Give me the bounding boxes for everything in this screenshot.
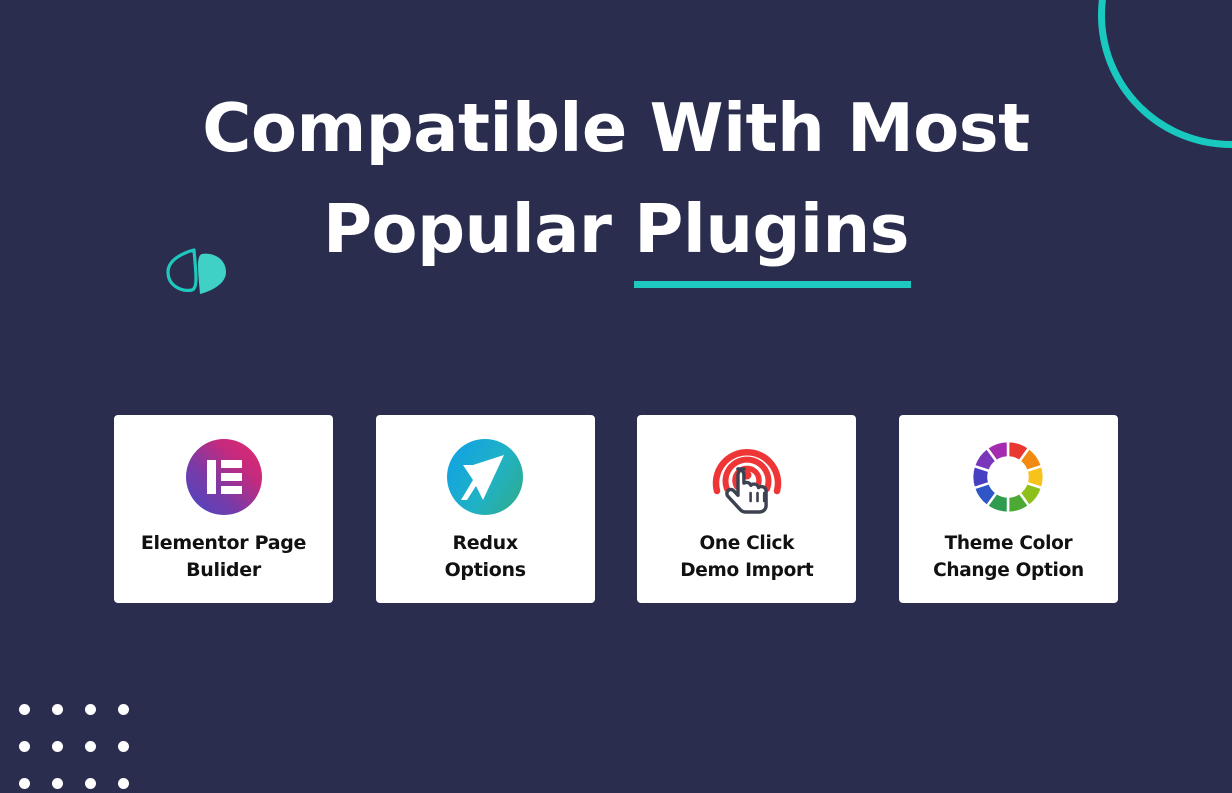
elementor-logo-icon [185,438,263,516]
plugin-card-theme-color-change-option[interactable]: Theme Color Change Option [899,415,1118,603]
promo-banner: Compatible With Most Popular Plugins [0,0,1232,793]
click-ripple-hand-icon [708,438,786,516]
plugin-card-elementor-page-builder[interactable]: Elementor Page Bulider [114,415,333,603]
page-title-line-2: Popular Plugins [0,179,1232,280]
color-wheel-icon [969,438,1047,516]
page-title-line-2-prefix: Popular [323,190,634,268]
page-title: Compatible With Most Popular Plugins [0,78,1232,280]
title-underline-bar [634,281,911,288]
plugin-card-label: Theme Color Change Option [927,530,1090,584]
white-dot-grid-decoration-icon [0,704,146,793]
plugin-card-label: Elementor Page Bulider [135,530,312,584]
plugin-card-one-click-demo-import[interactable]: One Click Demo Import [637,415,856,603]
plugin-card-label: Redux Options [439,530,532,584]
plugin-card-label: One Click Demo Import [674,530,819,584]
page-title-line-1: Compatible With Most [0,78,1232,179]
page-title-highlight: Plugins [634,179,909,280]
page-title-highlight-text: Plugins [634,190,909,268]
plugin-card-list: Elementor Page Bulider Redux Op [114,415,1118,603]
plugin-card-redux-options[interactable]: Redux Options [376,415,595,603]
redux-logo-icon [446,438,524,516]
